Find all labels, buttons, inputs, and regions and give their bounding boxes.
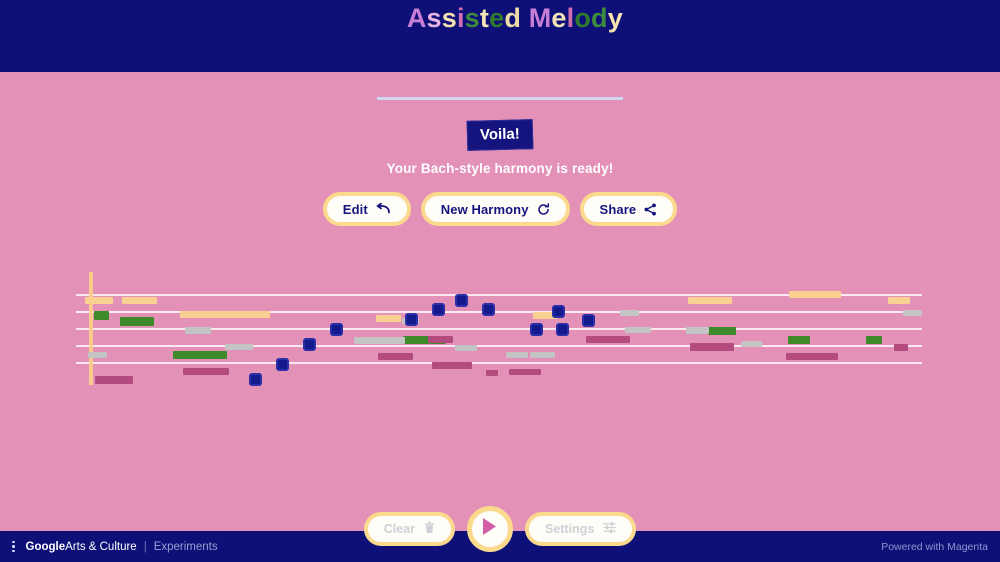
page-title: Assisted Melody bbox=[377, 0, 623, 100]
note-peach[interactable] bbox=[85, 297, 113, 304]
note-gray[interactable] bbox=[185, 327, 211, 334]
note-gray[interactable] bbox=[225, 344, 253, 350]
note-magenta[interactable] bbox=[95, 376, 133, 384]
title-letter-13: d bbox=[591, 3, 608, 33]
note-green[interactable] bbox=[708, 327, 736, 335]
share-icon bbox=[644, 203, 657, 216]
result-actions: Edit New Harmony Share bbox=[323, 192, 677, 226]
play-icon bbox=[481, 517, 498, 541]
note-green[interactable] bbox=[94, 311, 109, 320]
clear-button[interactable]: Clear bbox=[364, 512, 455, 546]
staff-line-4 bbox=[76, 362, 922, 364]
title-underline bbox=[377, 97, 623, 100]
app-header: Assisted Melody bbox=[0, 0, 1000, 72]
note-melody[interactable] bbox=[249, 373, 262, 386]
title-letter-10: e bbox=[551, 3, 566, 33]
note-gray[interactable] bbox=[741, 341, 762, 347]
settings-button-label: Settings bbox=[545, 522, 594, 536]
trash-icon bbox=[424, 521, 435, 537]
title-letter-8 bbox=[521, 3, 529, 33]
note-gray[interactable] bbox=[455, 345, 477, 351]
title-letter-7: d bbox=[504, 3, 521, 33]
edit-button[interactable]: Edit bbox=[323, 192, 411, 226]
title-letter-12: o bbox=[574, 3, 591, 33]
note-magenta[interactable] bbox=[894, 344, 908, 351]
result-subtitle: Your Bach-style harmony is ready! bbox=[387, 161, 614, 176]
title-letter-14: y bbox=[608, 3, 623, 33]
note-peach[interactable] bbox=[688, 297, 732, 304]
note-melody[interactable] bbox=[276, 358, 289, 371]
note-melody[interactable] bbox=[482, 303, 495, 316]
note-peach[interactable] bbox=[180, 311, 270, 318]
note-magenta[interactable] bbox=[509, 369, 541, 375]
title-letter-6: e bbox=[489, 3, 504, 33]
note-magenta[interactable] bbox=[786, 353, 838, 360]
music-staff[interactable] bbox=[0, 270, 1000, 395]
note-gray[interactable] bbox=[686, 327, 709, 334]
title-letter-2: s bbox=[442, 3, 457, 33]
new-harmony-button-label: New Harmony bbox=[441, 202, 529, 217]
note-melody[interactable] bbox=[530, 323, 543, 336]
refresh-icon bbox=[537, 203, 550, 216]
note-gray[interactable] bbox=[506, 352, 528, 358]
note-peach[interactable] bbox=[376, 315, 401, 322]
sliders-icon bbox=[603, 521, 616, 537]
note-green[interactable] bbox=[173, 351, 227, 359]
note-peach[interactable] bbox=[789, 291, 841, 298]
title-letter-4: s bbox=[465, 3, 480, 33]
undo-icon bbox=[376, 203, 391, 215]
title-letter-5: t bbox=[480, 3, 489, 33]
note-magenta[interactable] bbox=[183, 368, 229, 375]
note-melody[interactable] bbox=[330, 323, 343, 336]
clear-button-label: Clear bbox=[384, 522, 415, 536]
note-magenta[interactable] bbox=[378, 353, 413, 360]
edit-button-label: Edit bbox=[343, 202, 368, 217]
note-gray[interactable] bbox=[530, 352, 555, 358]
playhead[interactable] bbox=[89, 272, 93, 385]
title-letter-9: M bbox=[529, 3, 552, 33]
play-button[interactable] bbox=[467, 506, 513, 552]
transport-controls: Clear Settings bbox=[0, 506, 1000, 552]
share-button-label: Share bbox=[600, 202, 637, 217]
note-melody[interactable] bbox=[405, 313, 418, 326]
note-green[interactable] bbox=[866, 336, 882, 344]
note-green[interactable] bbox=[788, 336, 810, 344]
title-letter-1: s bbox=[427, 3, 442, 33]
note-magenta[interactable] bbox=[690, 343, 734, 351]
title-letter-3: i bbox=[457, 3, 465, 33]
note-melody[interactable] bbox=[556, 323, 569, 336]
note-melody[interactable] bbox=[455, 294, 468, 307]
note-peach[interactable] bbox=[888, 297, 910, 304]
result-panel: Voila! Your Bach-style harmony is ready!… bbox=[0, 120, 1000, 226]
note-melody[interactable] bbox=[303, 338, 316, 351]
note-gray[interactable] bbox=[88, 352, 107, 358]
note-melody[interactable] bbox=[432, 303, 445, 316]
new-harmony-button[interactable]: New Harmony bbox=[421, 192, 570, 226]
note-gray[interactable] bbox=[625, 327, 651, 333]
note-melody[interactable] bbox=[552, 305, 565, 318]
settings-button[interactable]: Settings bbox=[525, 512, 636, 546]
note-melody[interactable] bbox=[582, 314, 595, 327]
note-magenta[interactable] bbox=[432, 362, 472, 369]
note-green[interactable] bbox=[120, 317, 154, 326]
staff-line-3 bbox=[76, 345, 922, 347]
title-letter-0: A bbox=[407, 3, 427, 33]
note-magenta[interactable] bbox=[586, 336, 630, 343]
note-gray[interactable] bbox=[620, 310, 639, 316]
voila-badge: Voila! bbox=[467, 119, 534, 151]
note-gray[interactable] bbox=[903, 310, 922, 316]
share-button[interactable]: Share bbox=[580, 192, 678, 226]
note-magenta[interactable] bbox=[486, 370, 498, 376]
note-gray[interactable] bbox=[354, 337, 405, 344]
note-peach[interactable] bbox=[122, 297, 157, 304]
note-magenta[interactable] bbox=[428, 336, 453, 343]
